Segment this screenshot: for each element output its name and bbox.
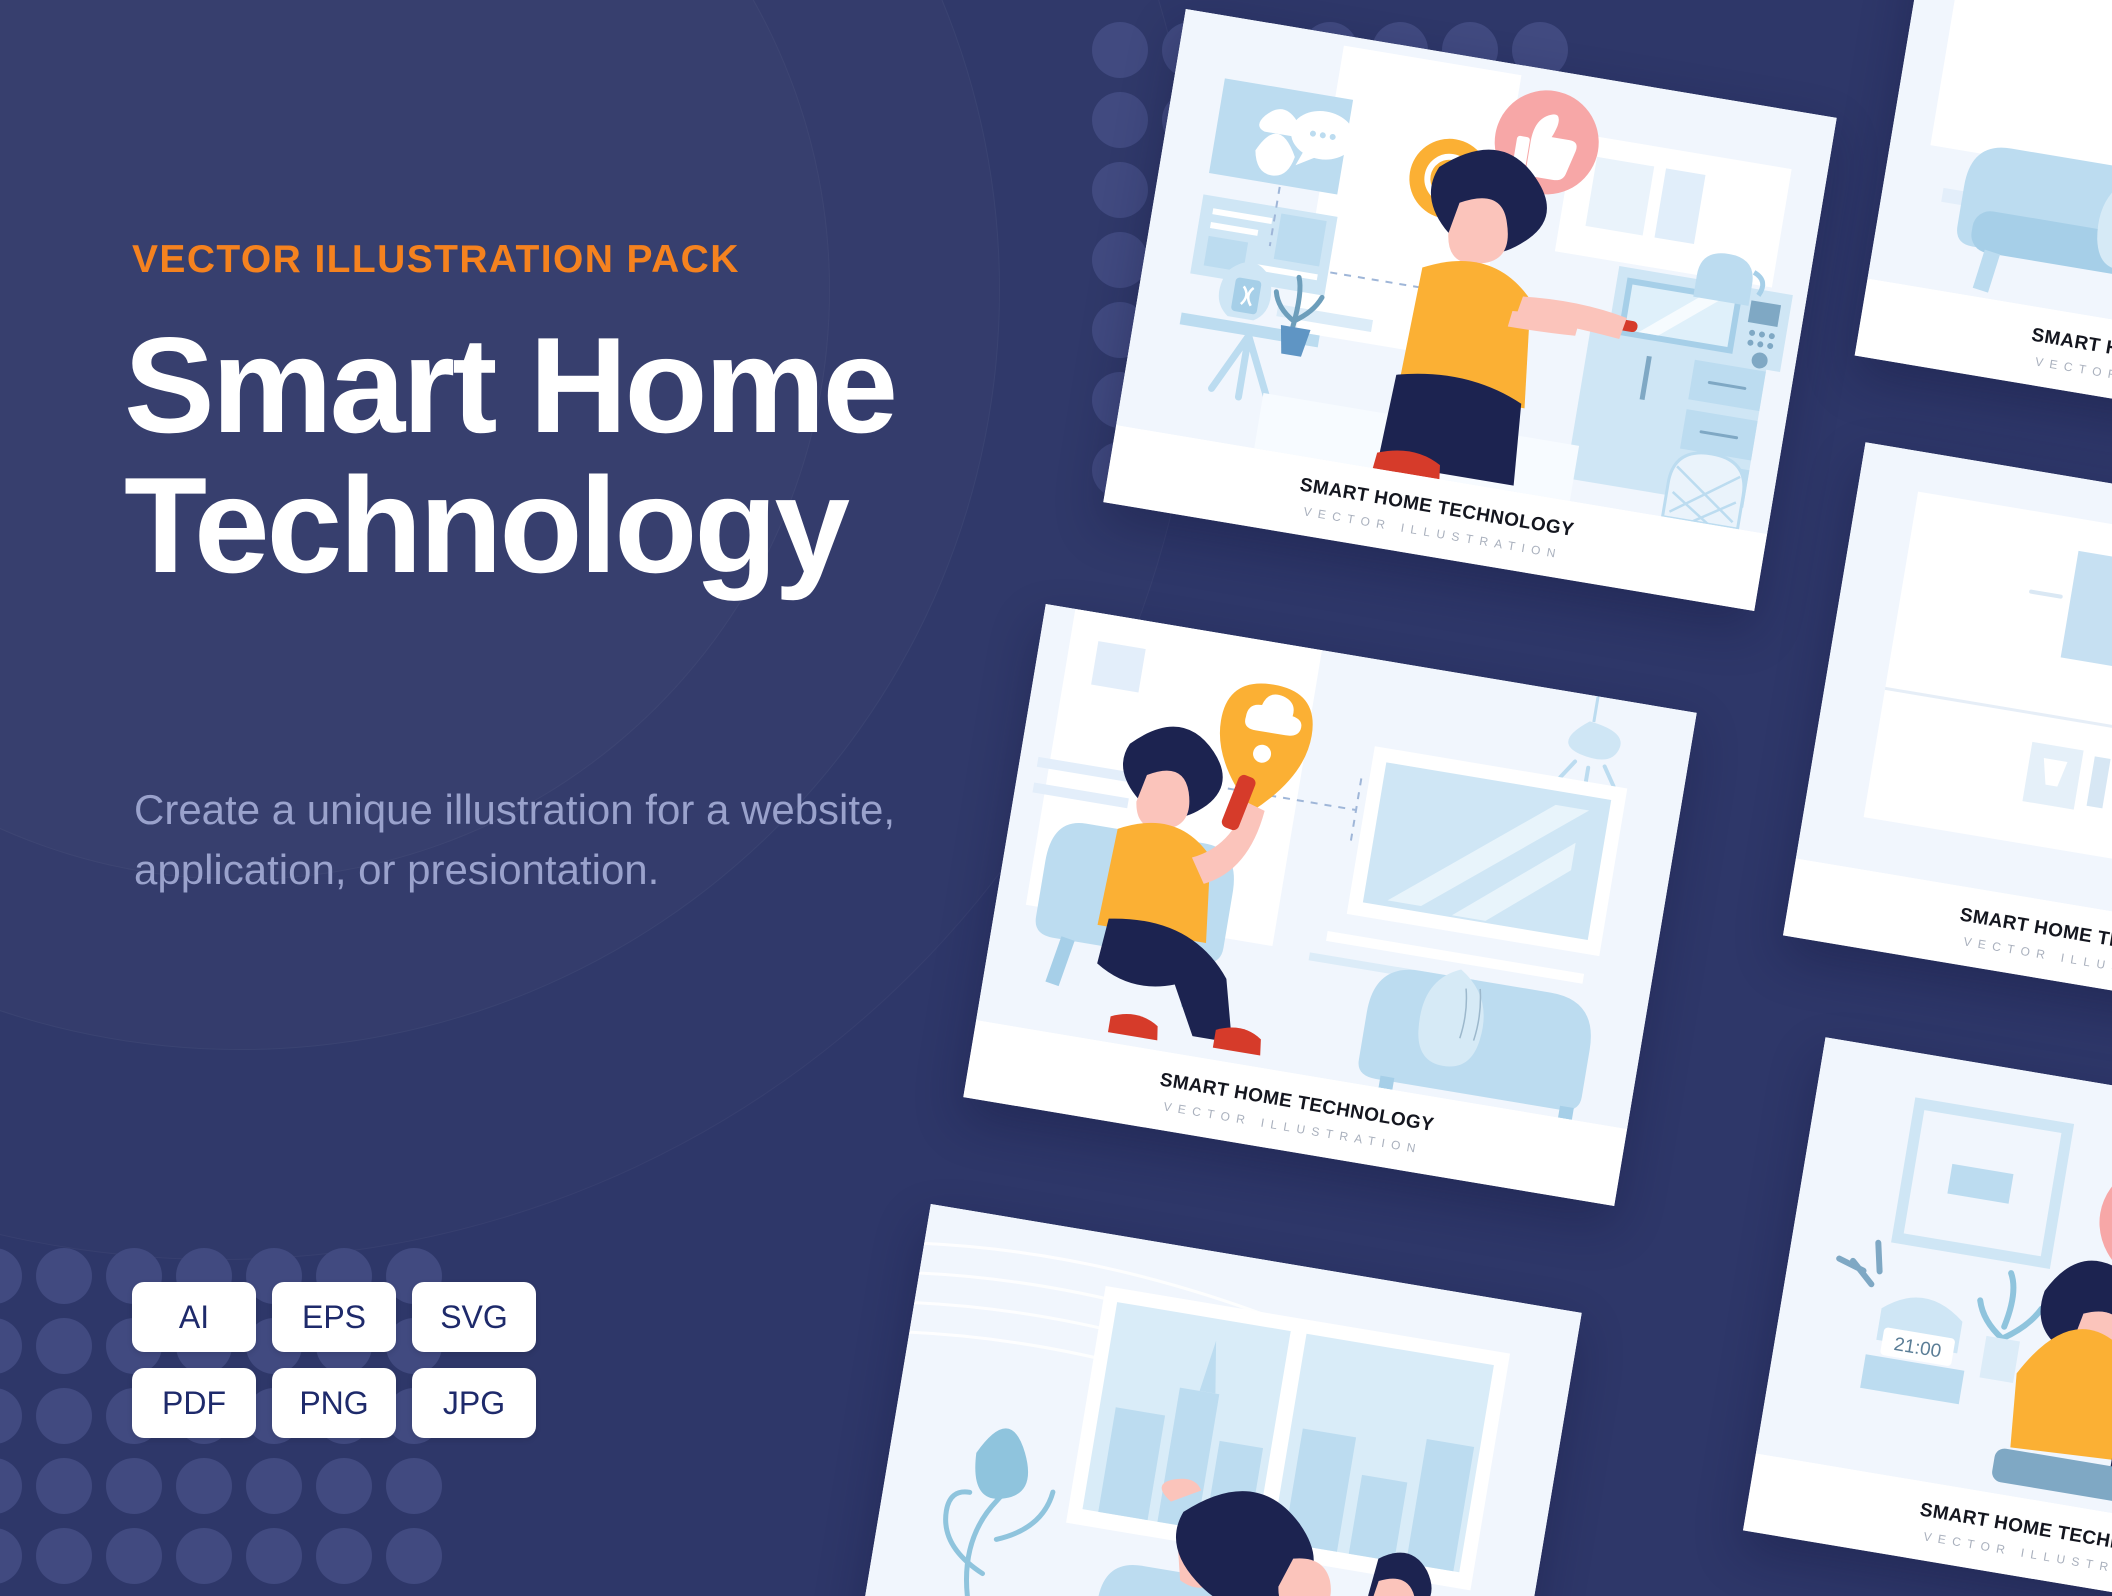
card-caption-subtitle: VECTOR ILLUSTRATION (2034, 354, 2112, 411)
illustration-card-seated-phone[interactable]: SMART HOME TECHNOLOGY VECTOR ILLUSTRATIO… (963, 604, 1696, 1206)
illustration-card-refrigerator[interactable]: SMART HOME TECHNOLOGY VECTOR ILLUSTRATIO… (1783, 442, 2112, 1037)
illustration-card-armchair[interactable]: SMART HOME TECHNOLOGY VECTOR ILLUSTRATIO… (1855, 0, 2112, 458)
illustration-card-smart-alarm[interactable]: 21:00 SMART HOME TECHNOLOGY VECTOR ILLUS… (1743, 1037, 2112, 1596)
couple-sofa-scene-icon (861, 1204, 1582, 1596)
illustration-card-microwave-kitchen[interactable]: SMART HOME TECHNOLOGY VECTOR ILLUSTRATIO… (1103, 9, 1836, 611)
card-artwork (861, 1204, 1582, 1596)
illustration-card-couple-sofa[interactable]: SMART HOME TECHNOLOGY VECTOR ILLUSTRATIO… (848, 1204, 1581, 1596)
illustration-card-stage: SMART HOME TECHNOLOGY VECTOR ILLUSTRATIO… (0, 0, 2112, 1596)
